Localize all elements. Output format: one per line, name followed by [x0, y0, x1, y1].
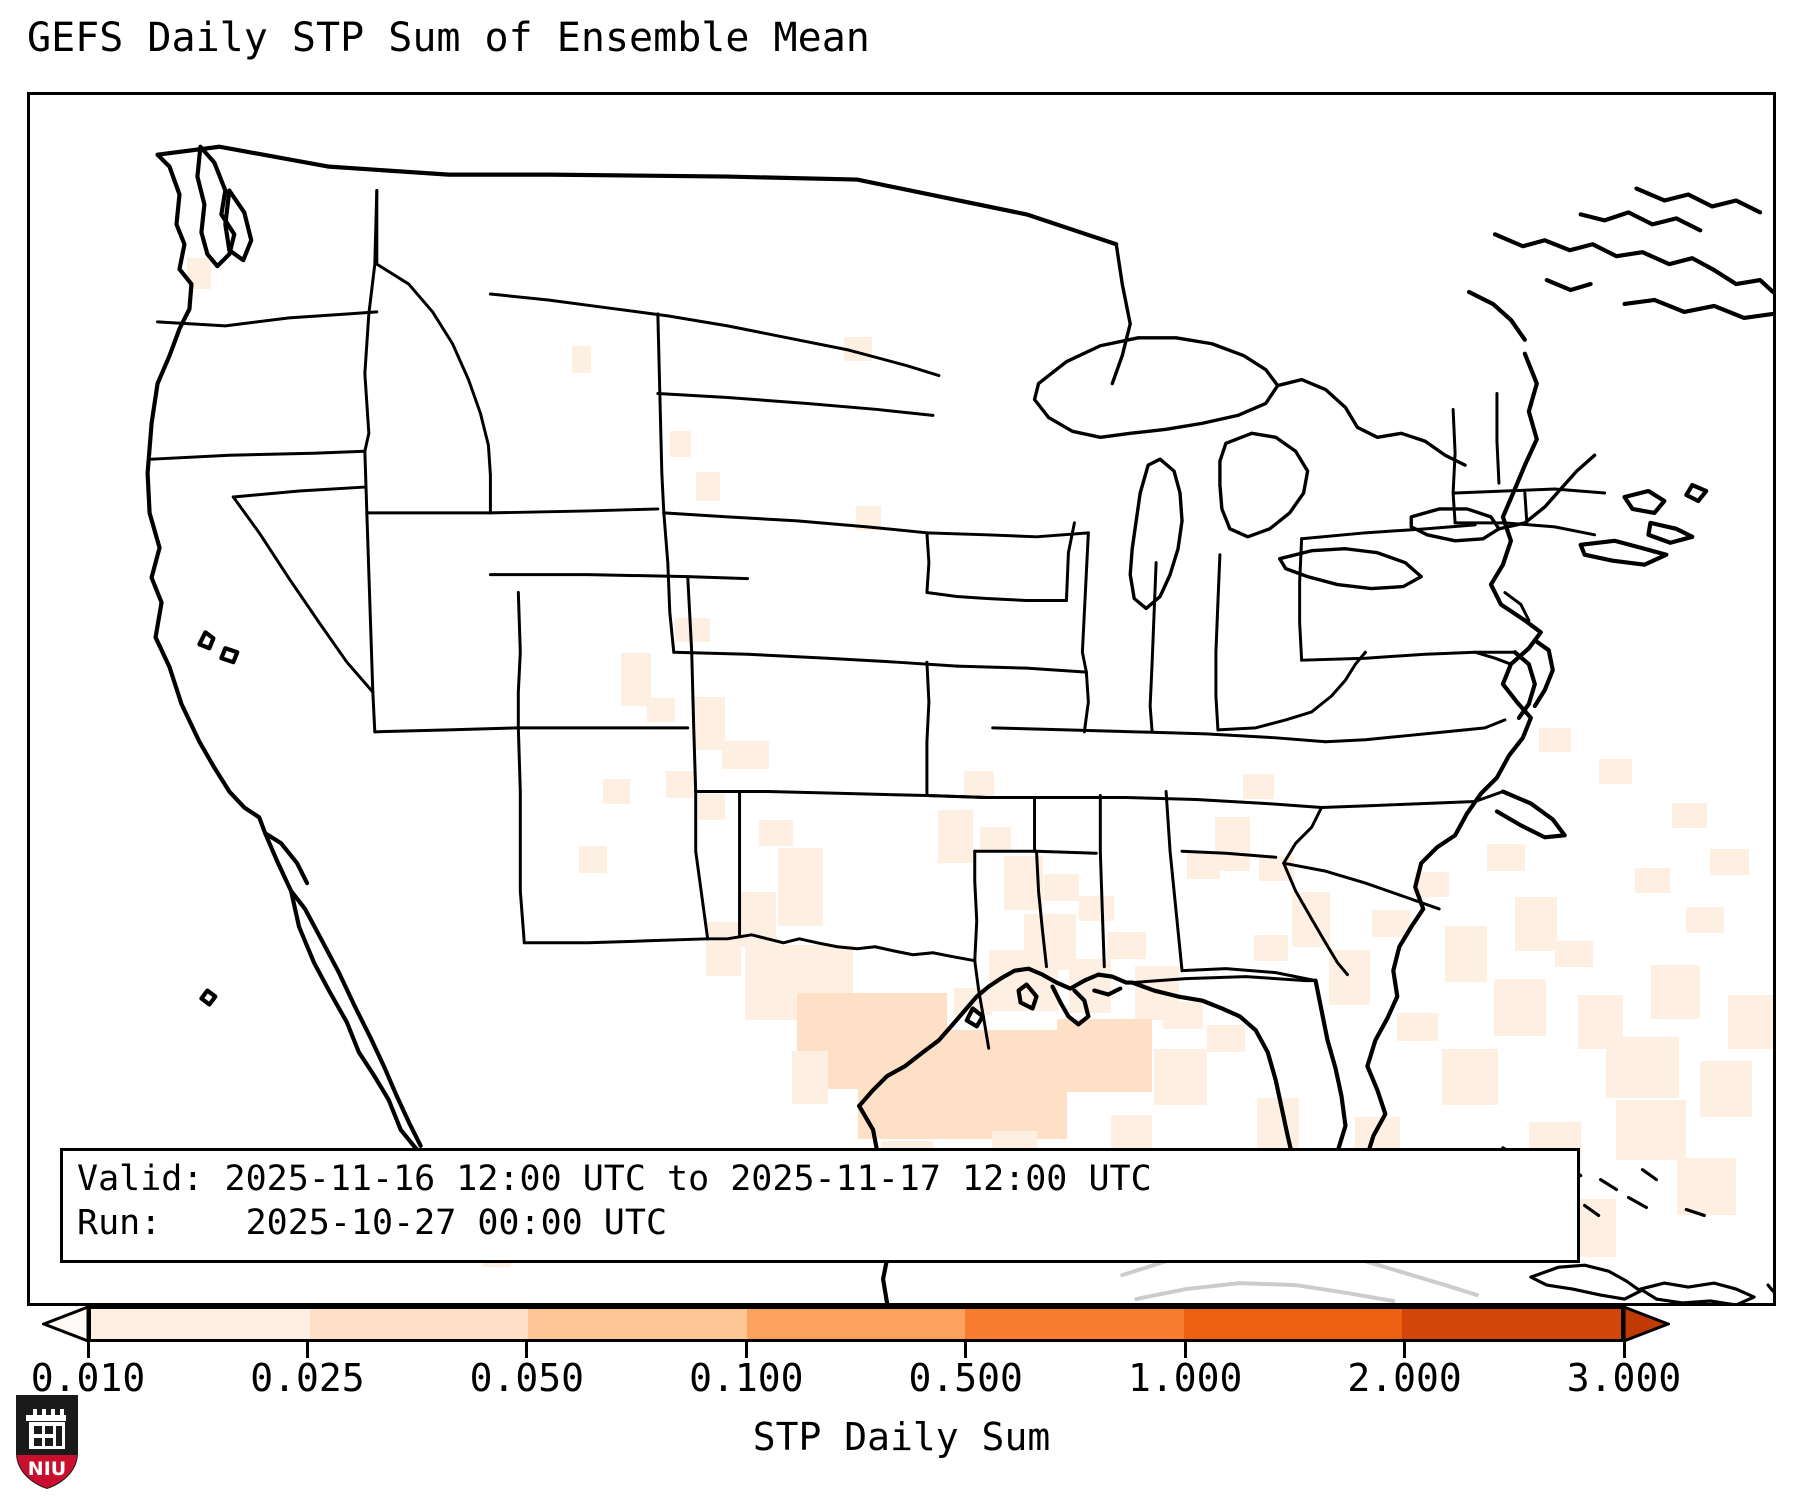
colorbar-tick-label-2: 0.050: [470, 1356, 584, 1400]
colorbar-segment-6: [1402, 1309, 1621, 1339]
colorbar-gradient: [88, 1306, 1624, 1342]
colorbar-under-arrow: [42, 1306, 88, 1342]
niu-wordmark: NIU: [28, 1458, 66, 1480]
us-canada-border-west: [158, 147, 1117, 245]
colorbar-tick-label-1: 0.025: [250, 1356, 364, 1400]
colorbar-tick-label-4: 0.500: [909, 1356, 1023, 1400]
colorbar-segment-5: [1184, 1309, 1403, 1339]
page-title: GEFS Daily STP Sum of Ensemble Mean: [27, 16, 870, 60]
colorbar-tick-label-5: 1.000: [1128, 1356, 1242, 1400]
run-time-text: Run: 2025-10-27 00:00 UTC: [77, 1203, 667, 1243]
niu-logo: NIU: [14, 1393, 80, 1491]
colorbar-tick-labels: 0.0100.0250.0500.1000.5001.0002.0003.000: [0, 1356, 1803, 1406]
colorbar-segment-3: [747, 1309, 966, 1339]
forecast-info-box: Valid: 2025-11-16 12:00 UTC to 2025-11-1…: [60, 1148, 1580, 1263]
colorbar-tick-label-6: 2.000: [1347, 1356, 1461, 1400]
colorbar-segment-4: [965, 1309, 1184, 1339]
colorbar-tick-label-7: 3.000: [1567, 1356, 1681, 1400]
geography-layer: [30, 95, 1773, 1303]
colorbar-segment-0: [91, 1309, 310, 1339]
colorbar-tick-label-3: 0.100: [689, 1356, 803, 1400]
colorbar-segment-1: [310, 1309, 529, 1339]
valid-time-text: Valid: 2025-11-16 12:00 UTC to 2025-11-1…: [77, 1159, 1152, 1199]
colorbar-axis-label: STP Daily Sum: [0, 1415, 1803, 1459]
colorbar-over-arrow: [1624, 1306, 1670, 1342]
map-plot-area: [27, 92, 1776, 1306]
colorbar-segment-2: [528, 1309, 747, 1339]
niu-shield-icon: NIU: [14, 1393, 80, 1491]
map-clip: [30, 95, 1773, 1303]
colorbar: [0, 1306, 1803, 1356]
